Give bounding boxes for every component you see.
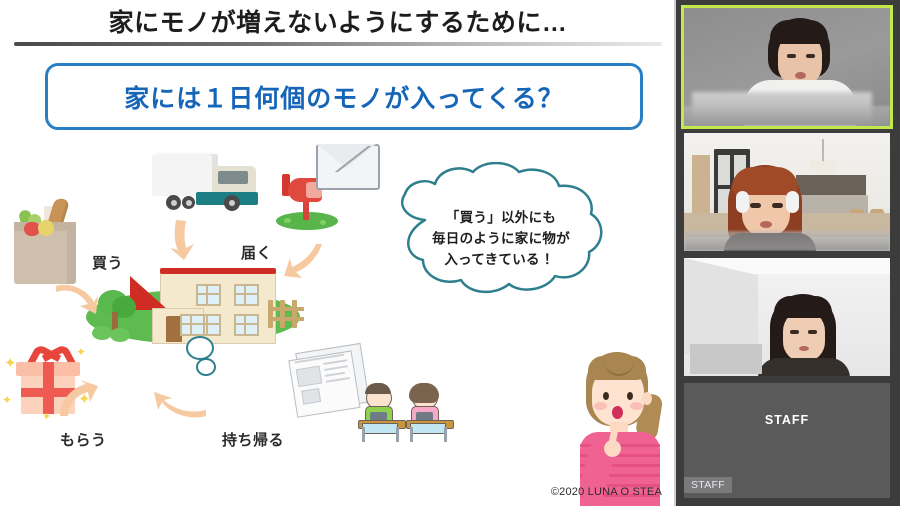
thinking-woman-illustration	[568, 352, 670, 506]
video-tile-participant-4[interactable]: STAFF STAFF	[684, 383, 890, 498]
house-icon	[130, 258, 274, 342]
question-text: 家には１日何個のモノが入ってくる？	[124, 79, 564, 115]
video-tile-participant-2[interactable]	[684, 133, 890, 251]
envelope-icon	[316, 144, 380, 190]
participant-4-name-label: STAFF	[684, 477, 732, 493]
label-receive: もらう	[60, 429, 107, 450]
arrow-gift-to-house	[56, 380, 100, 422]
delivery-truck-icon	[152, 152, 260, 218]
camera-off-placeholder-label: STAFF	[684, 413, 890, 427]
participant-video-rail: STAFF STAFF	[676, 0, 900, 506]
label-bring-home: 持ち帰る	[222, 429, 284, 450]
fence-icon	[268, 300, 304, 328]
bush-icon	[110, 328, 130, 342]
participant-2-blur-overlay	[684, 231, 890, 251]
label-buy: 買う	[92, 252, 123, 273]
video-tile-participant-3[interactable]	[684, 258, 890, 376]
arrow-buy-to-house	[52, 280, 100, 320]
participant-3-video	[684, 258, 890, 376]
arrow-school-to-house	[150, 388, 210, 424]
thought-bubble-text: 「買う」以外にも 毎日のように家に物が 入ってきている ！	[411, 208, 591, 271]
video-tile-participant-1[interactable]	[684, 8, 890, 126]
thought-bubble-dot-large	[186, 336, 214, 360]
bush-icon	[92, 326, 112, 340]
question-box: 家には１日何個のモノが入ってくる？	[45, 63, 643, 130]
arrow-mail-to-house	[282, 242, 326, 284]
slide-title: 家にモノが増えないようにするために…	[0, 2, 676, 40]
shared-slide: 家にモノが増えないようにするために… 家には１日何個のモノが入ってくる？ 買う	[0, 0, 676, 506]
participant-1-blur-overlay	[684, 106, 890, 126]
copyright-notice: ©2020 LUNA O STEA	[0, 486, 662, 498]
slide-diagram: 買う 届く	[0, 130, 676, 506]
video-conference-screen: 家にモノが増えないようにするために… 家には１日何個のモノが入ってくる？ 買う	[0, 0, 900, 506]
school-children-icon	[358, 380, 454, 442]
title-divider	[14, 42, 662, 46]
arrow-truck-to-house	[168, 218, 198, 262]
thought-bubble-dot-small	[196, 358, 216, 376]
thought-bubble: 「買う」以外にも 毎日のように家に物が 入ってきている ！	[377, 162, 617, 302]
grocery-bag-icon	[14, 198, 76, 284]
